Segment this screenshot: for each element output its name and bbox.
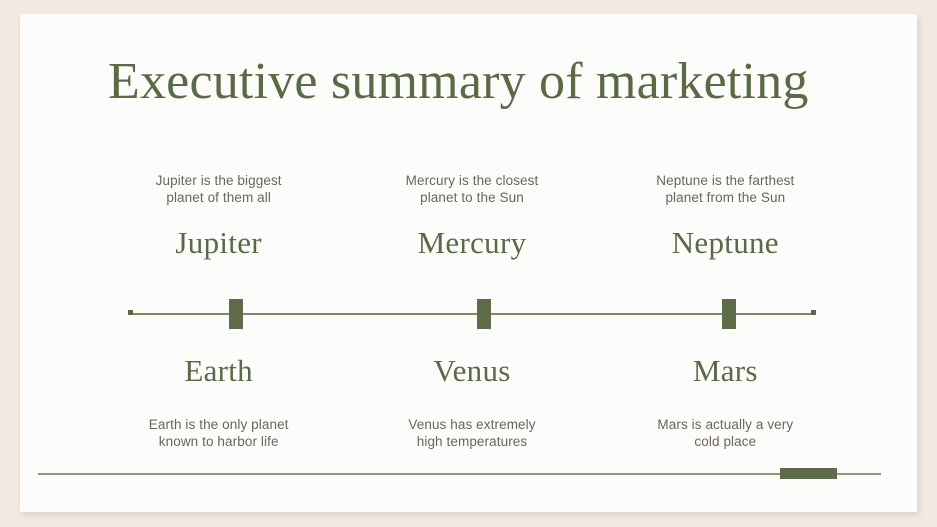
timeline-bottom-names-row: Earth Venus Mars bbox=[92, 354, 852, 388]
timeline-marker-2 bbox=[477, 299, 491, 329]
description-line: planet to the Sun bbox=[351, 189, 592, 206]
timeline-column-2-top-name-cell: Mercury bbox=[345, 226, 598, 260]
timeline-column-2-bottom-description: Venus has extremely high temperatures bbox=[345, 416, 598, 450]
timeline-column-2-top-description: Mercury is the closest planet to the Sun bbox=[345, 172, 598, 206]
timeline-column-1-top-name-cell: Jupiter bbox=[92, 226, 345, 260]
description-line: known to harbor life bbox=[98, 433, 339, 450]
description-line: planet from the Sun bbox=[605, 189, 846, 206]
description-line: Mars is actually a very bbox=[605, 416, 846, 433]
axis-endcap-left-icon bbox=[128, 310, 133, 315]
description-line: Venus has extremely bbox=[351, 416, 592, 433]
timeline-column-2-bottom-name-cell: Venus bbox=[345, 354, 598, 388]
description-line: Earth is the only planet bbox=[98, 416, 339, 433]
timeline-column-1-bottom-name-cell: Earth bbox=[92, 354, 345, 388]
timeline-marker-3 bbox=[722, 299, 736, 329]
description-line: high temperatures bbox=[351, 433, 592, 450]
timeline-bottom-descriptions-row: Earth is the only planet known to harbor… bbox=[92, 416, 852, 450]
planet-name-mercury: Mercury bbox=[351, 226, 592, 260]
timeline-column-3-bottom-name-cell: Mars bbox=[599, 354, 852, 388]
axis-endcap-right-icon bbox=[811, 310, 816, 315]
description-line: cold place bbox=[605, 433, 846, 450]
planet-name-earth: Earth bbox=[98, 354, 339, 388]
footer-accent-block bbox=[780, 468, 837, 479]
timeline-top-names-row: Jupiter Mercury Neptune bbox=[92, 226, 852, 260]
page-title: Executive summary of marketing bbox=[108, 52, 848, 112]
planet-name-neptune: Neptune bbox=[605, 226, 846, 260]
description-line: Neptune is the farthest bbox=[605, 172, 846, 189]
timeline-diagram: Jupiter is the biggest planet of them al… bbox=[92, 154, 852, 474]
description-line: Jupiter is the biggest bbox=[98, 172, 339, 189]
footer-divider bbox=[38, 473, 881, 475]
timeline-column-3-bottom-description: Mars is actually a very cold place bbox=[599, 416, 852, 450]
slide-canvas: Executive summary of marketing Jupiter i… bbox=[20, 14, 917, 512]
timeline-column-3-top-description: Neptune is the farthest planet from the … bbox=[599, 172, 852, 206]
description-line: Mercury is the closest bbox=[351, 172, 592, 189]
timeline-axis bbox=[92, 294, 852, 334]
timeline-column-1-top-description: Jupiter is the biggest planet of them al… bbox=[92, 172, 345, 206]
planet-name-mars: Mars bbox=[605, 354, 846, 388]
timeline-marker-1 bbox=[229, 299, 243, 329]
timeline-top-descriptions-row: Jupiter is the biggest planet of them al… bbox=[92, 172, 852, 206]
timeline-column-3-top-name-cell: Neptune bbox=[599, 226, 852, 260]
description-line: planet of them all bbox=[98, 189, 339, 206]
planet-name-jupiter: Jupiter bbox=[98, 226, 339, 260]
timeline-column-1-bottom-description: Earth is the only planet known to harbor… bbox=[92, 416, 345, 450]
planet-name-venus: Venus bbox=[351, 354, 592, 388]
